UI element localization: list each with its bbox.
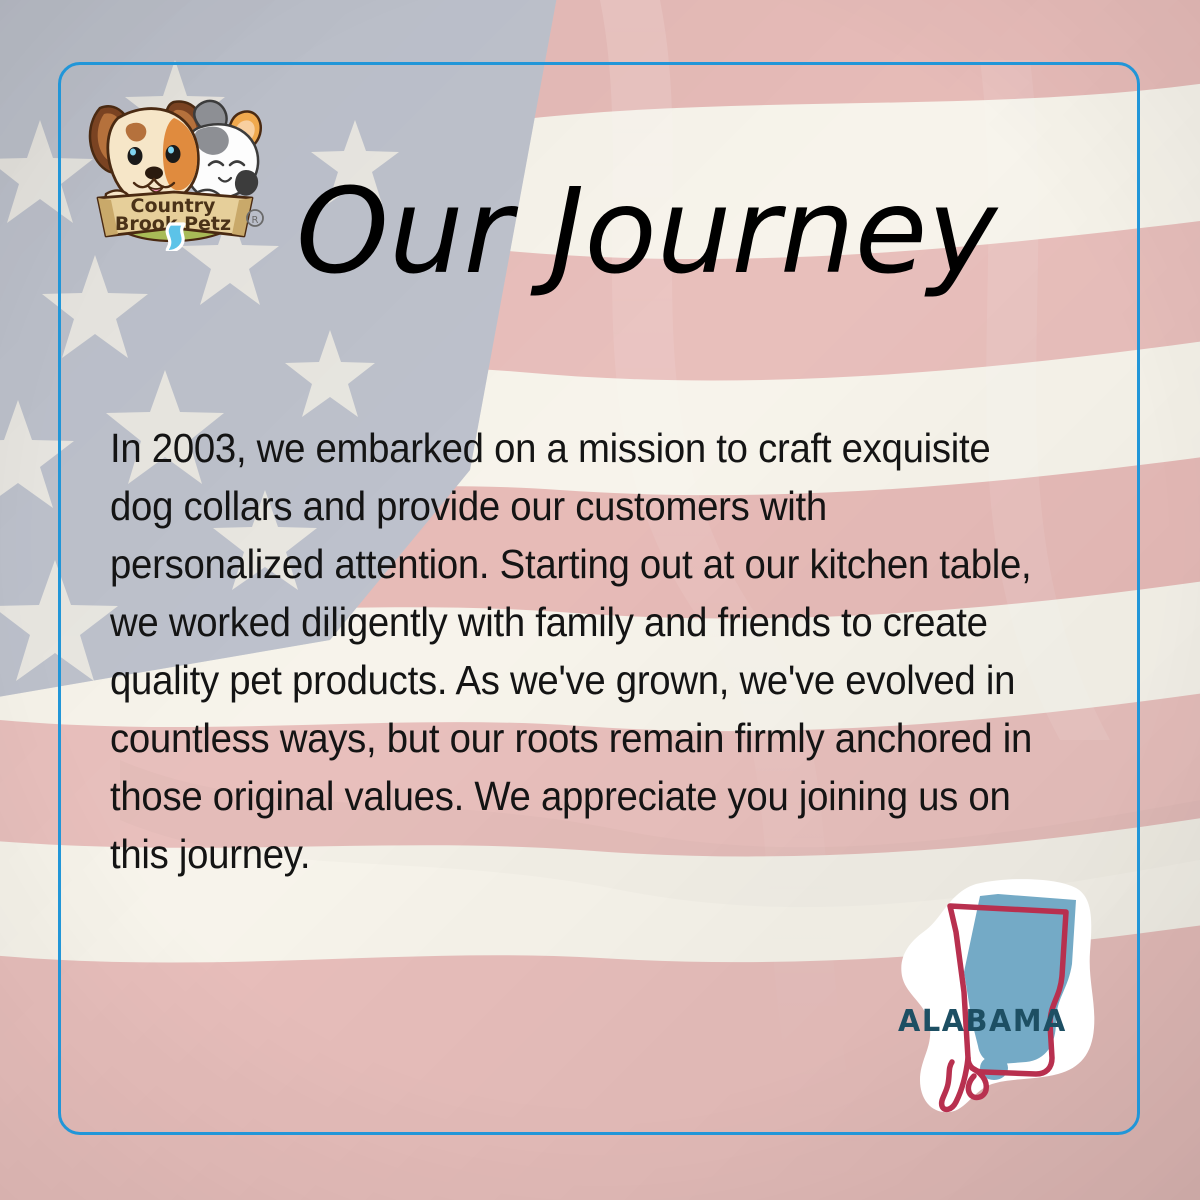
journey-body-text: In 2003, we embarked on a mission to cra… — [110, 419, 1045, 883]
country-brook-petz-logo: Country Brook Petz R — [78, 66, 268, 251]
page-title-text: Our Journey — [296, 162, 999, 300]
page-title: Our Journey — [296, 150, 916, 320]
alabama-sticker — [880, 872, 1138, 1127]
alabama-sticker-label: ALABAMA — [898, 1004, 1067, 1039]
svg-text:R: R — [252, 215, 259, 226]
journey-card: Country Brook Petz R Our Journey In 2003… — [0, 0, 1200, 1200]
